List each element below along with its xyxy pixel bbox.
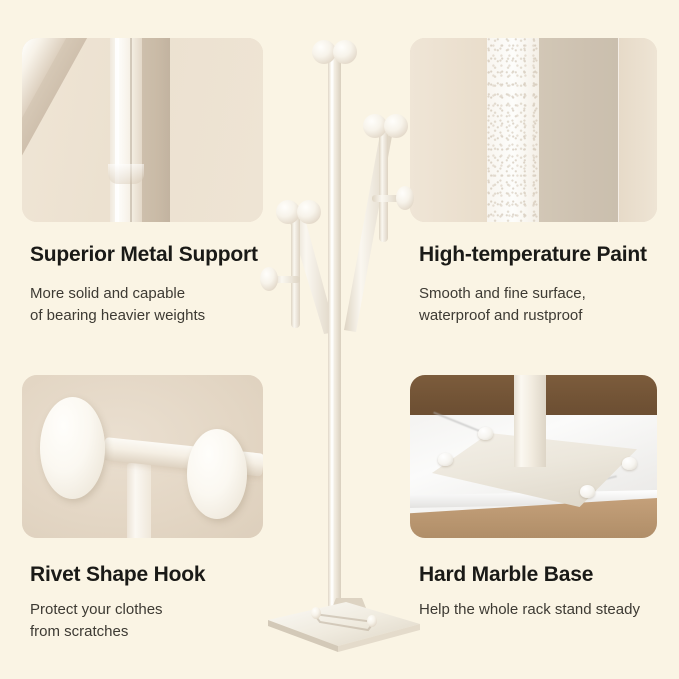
base-foot <box>438 453 453 466</box>
paint-texture-speckle <box>487 38 539 222</box>
paint-band-edge-line <box>618 38 619 222</box>
base-foot <box>478 427 493 440</box>
feature-title: High-temperature Paint <box>419 243 669 267</box>
hook-disc <box>297 200 321 224</box>
hook-disc <box>333 40 357 64</box>
coat-rack-illustration <box>250 32 430 652</box>
rivet-disc-left <box>40 397 105 499</box>
paint-band-right <box>618 38 657 222</box>
hook-disc <box>312 40 336 64</box>
center-pole-shaft <box>328 52 341 610</box>
base-screw <box>367 615 377 627</box>
hook-disc <box>384 114 408 138</box>
feature-image-rivet-shape-hook <box>22 375 263 538</box>
paint-band-shadow <box>539 38 618 222</box>
side-hook-arm <box>372 195 400 202</box>
rack-pole <box>514 375 546 467</box>
pole-back-edge <box>140 38 170 222</box>
brace-joint <box>108 164 144 184</box>
side-hook-disc <box>260 267 278 291</box>
base-foot <box>622 457 637 470</box>
feature-title: Hard Marble Base <box>419 563 679 587</box>
feature-description-line: waterproof and rustproof <box>419 305 669 327</box>
feature-image-hard-marble-base <box>410 375 657 538</box>
pole-seam <box>130 38 132 222</box>
rack-marble-base <box>268 598 420 652</box>
rivet-disc-right <box>187 429 247 519</box>
branch-left-upper <box>291 216 300 328</box>
hook-vertical-post <box>127 463 151 538</box>
rack-branch-left <box>260 200 336 334</box>
hook-disc <box>363 114 387 138</box>
feature-image-high-temperature-paint <box>410 38 657 222</box>
hook-disc <box>276 200 300 224</box>
rack-branch-right <box>344 114 414 332</box>
branch-right-upper <box>379 130 388 242</box>
feature-text-high-temperature-paint: High-temperature Paint Smooth and fine s… <box>419 243 669 327</box>
base-plate-top <box>268 602 420 646</box>
feature-description: Help the whole rack stand steady <box>419 599 679 621</box>
side-hook-disc <box>396 186 414 210</box>
feature-description: Smooth and fine surface, waterproof and … <box>419 283 669 327</box>
pole-highlight <box>115 38 119 222</box>
base-foot <box>580 485 595 498</box>
base-screw <box>311 607 321 619</box>
feature-text-hard-marble-base: Hard Marble Base Help the whole rack sta… <box>419 563 679 621</box>
feature-description-line: Smooth and fine surface, <box>419 283 669 305</box>
feature-description-line: Help the whole rack stand steady <box>419 599 679 621</box>
infographic-canvas: Superior Metal Support More solid and ca… <box>0 0 679 679</box>
center-pole-highlight <box>331 52 334 610</box>
feature-image-superior-metal-support <box>22 38 263 222</box>
